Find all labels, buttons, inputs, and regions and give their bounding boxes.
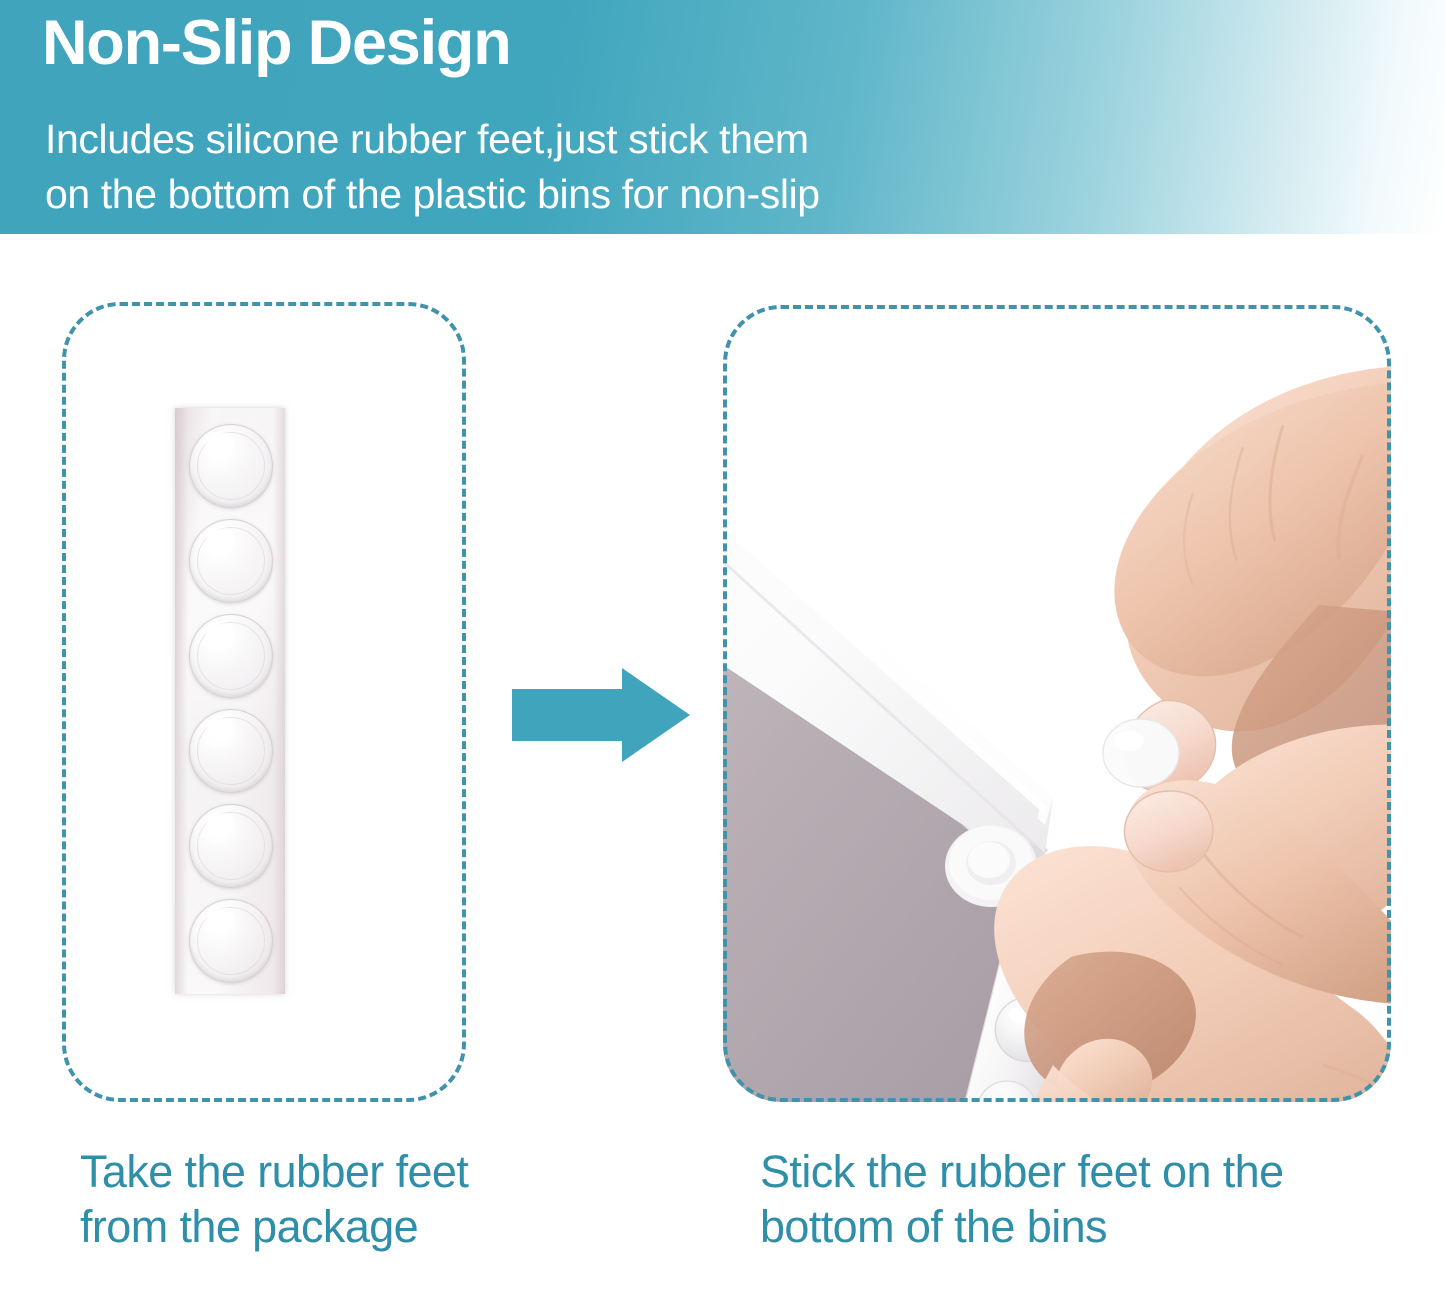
- step-1-caption: Take the rubber feet from the package: [80, 1145, 500, 1255]
- dome-highlight: [206, 718, 234, 738]
- banner-subtitle-line-1: Includes silicone rubber feet,just stick…: [45, 112, 820, 167]
- header-banner: Non-Slip Design Includes silicone rubber…: [0, 0, 1445, 234]
- step-2-caption: Stick the rubber feet on the bottom of t…: [760, 1145, 1400, 1255]
- banner-subtitle-line-2: on the bottom of the plastic bins for no…: [45, 167, 820, 222]
- dome-highlight: [206, 433, 234, 453]
- rubber-foot-dome: [189, 614, 273, 698]
- step-2-dashed-panel: [723, 305, 1391, 1102]
- rubber-foot-dome: [189, 424, 273, 508]
- rubber-foot-dome: [189, 519, 273, 603]
- rubber-foot-dome: [189, 804, 273, 888]
- dome-highlight: [206, 623, 234, 643]
- dome-highlight: [206, 813, 234, 833]
- rubber-feet-strip-image: [175, 408, 285, 994]
- dome-highlight: [206, 528, 234, 548]
- rubber-foot-dome: [189, 709, 273, 793]
- page-title: Non-Slip Design: [42, 9, 511, 77]
- rubber-foot-dome: [189, 899, 273, 983]
- dome-highlight: [206, 908, 234, 928]
- right-arrow-icon: [512, 668, 690, 762]
- banner-subtitle: Includes silicone rubber feet,just stick…: [45, 112, 820, 222]
